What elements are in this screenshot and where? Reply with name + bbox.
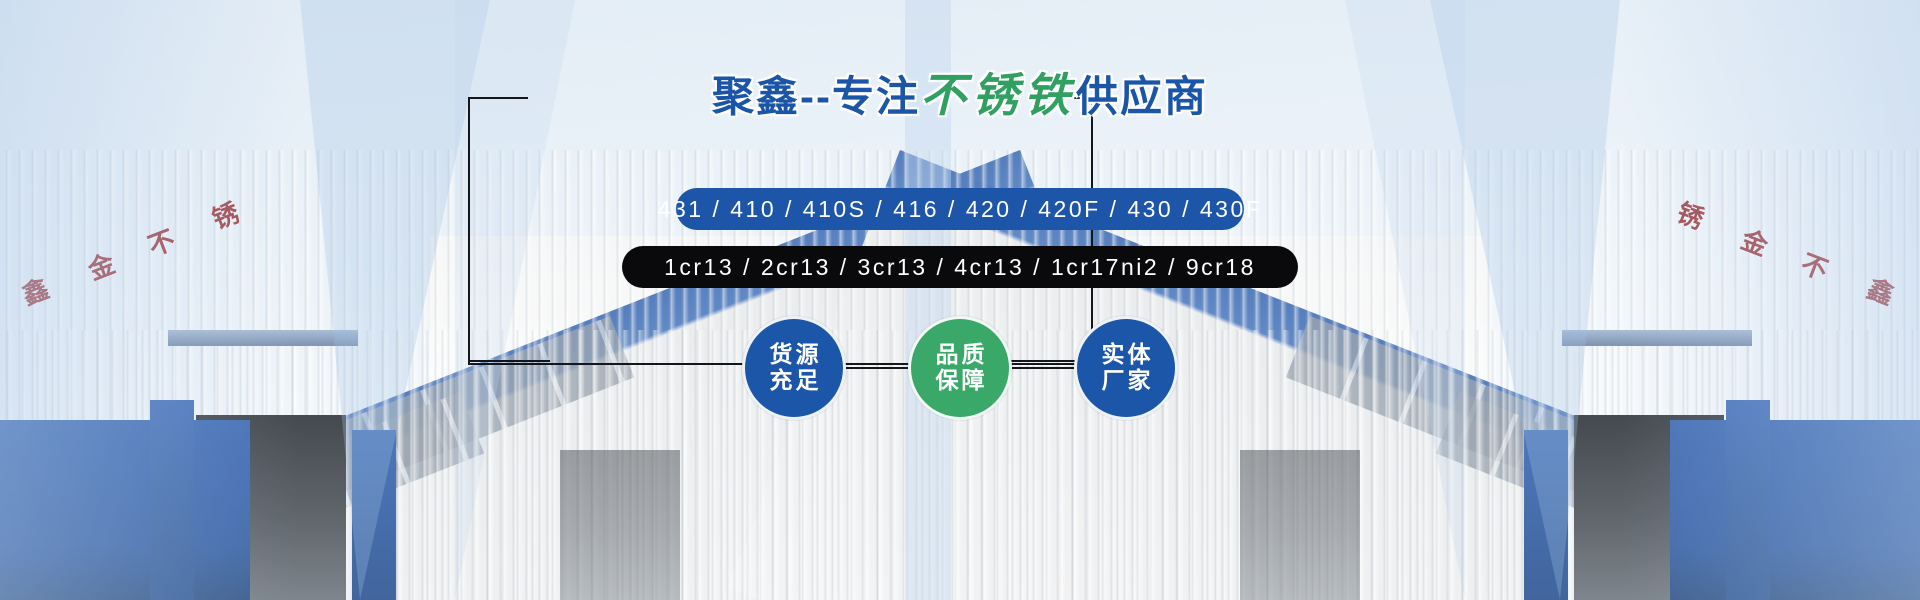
feature-badge-line-2: 保障 — [933, 368, 988, 394]
feature-badge-line-1: 货源 — [767, 342, 822, 368]
headline-part-1: 聚鑫--专注 — [712, 73, 920, 120]
feature-badge-quality: 品质 保障 — [908, 316, 1012, 420]
feature-badge-line-1: 实体 — [1099, 342, 1154, 368]
feature-badge-factory: 实体 厂家 — [1074, 316, 1178, 420]
steel-grade-bar-black: 1cr13 / 2cr13 / 3cr13 / 4cr13 / 1cr17ni2… — [622, 246, 1298, 288]
promo-banner: 鑫 金 不 锈 鑫 不 金 锈 — [0, 0, 1920, 600]
feature-badge-supply: 货源 充足 — [742, 316, 846, 420]
banner-headline: 聚鑫--专注不锈铁供应商 — [0, 72, 1920, 118]
feature-badges: 货源 充足 品质 保障 实体 厂家 — [0, 308, 1920, 428]
badge-connector-2 — [1012, 367, 1074, 369]
feature-badge-line-1: 品质 — [933, 342, 988, 368]
feature-badge-line-2: 厂家 — [1099, 368, 1154, 394]
banner-content: 聚鑫--专注不锈铁供应商 431 / 410 / 410S / 416 / 42… — [0, 0, 1920, 600]
steel-grade-bar-blue: 431 / 410 / 410S / 416 / 420 / 420F / 43… — [676, 188, 1244, 230]
headline-part-3: 供应商 — [1076, 73, 1208, 120]
feature-badge-line-2: 充足 — [767, 368, 822, 394]
badge-connector-1 — [846, 367, 908, 369]
headline-part-2-highlight: 不锈铁 — [920, 68, 1076, 122]
